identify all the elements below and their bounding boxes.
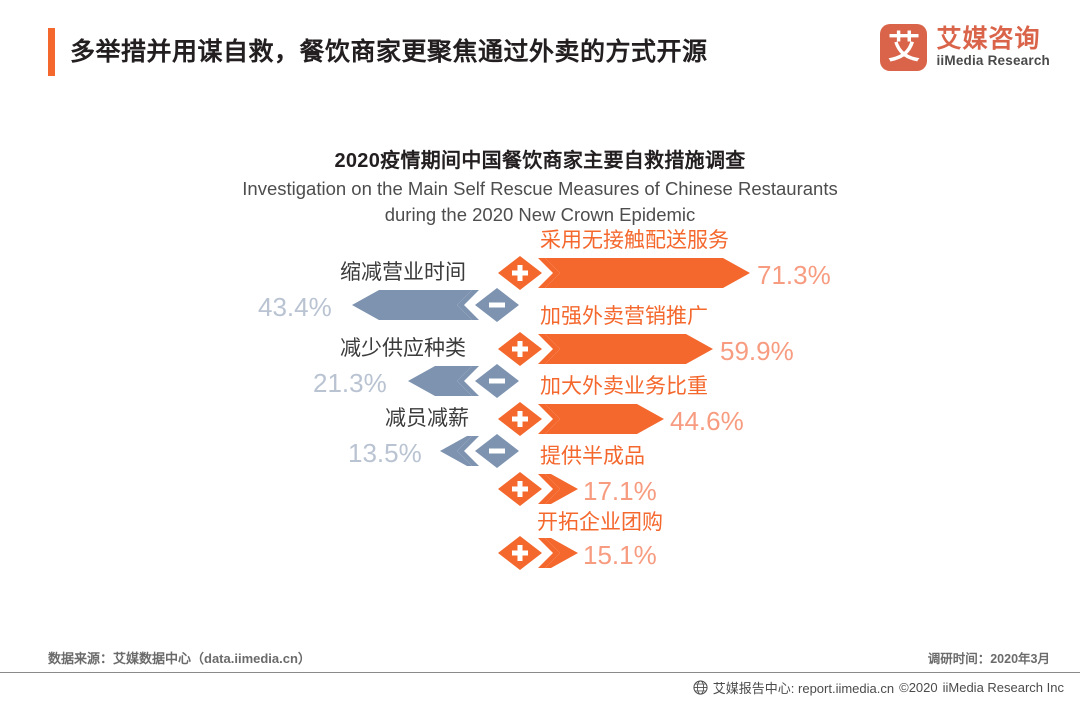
bar-label: 加强外卖营销推广 <box>540 306 708 327</box>
logo-name-en: iiMedia Research <box>936 53 1050 69</box>
bar-shape-negative-0 <box>352 288 519 322</box>
bar-shape-positive-0 <box>498 256 750 290</box>
bar-shape-positive-1 <box>498 332 713 366</box>
bar-shape-negative-2 <box>440 434 519 468</box>
chart-title: 2020疫情期间中国餐饮商家主要自救措施调查 <box>0 144 1080 173</box>
bar-value: 71.3% <box>757 262 831 288</box>
footer-source: 数据来源：艾媒数据中心（data.iimedia.cn） <box>48 648 311 667</box>
bar-value: 59.9% <box>720 338 794 364</box>
bar-value: 21.3% <box>313 370 387 396</box>
bar-shape-positive-4 <box>498 536 578 570</box>
bar-label: 缩减营业时间 <box>340 262 466 283</box>
bar-label: 加大外卖业务比重 <box>540 376 708 397</box>
title-accent-bar <box>48 28 55 76</box>
bar-label: 提供半成品 <box>540 446 645 467</box>
chart-subtitle: Investigation on the Main Self Rescue Me… <box>0 176 1080 229</box>
logo-name-cn: 艾媒咨询 <box>936 26 1050 52</box>
logo-mark-icon: 艾 <box>880 24 927 71</box>
bar-label: 采用无接触配送服务 <box>540 230 729 251</box>
chart-subtitle-line1: Investigation on the Main Self Rescue Me… <box>242 178 837 199</box>
footer-company: iiMedia Research Inc <box>943 680 1064 695</box>
bar-shape-positive-3 <box>498 472 578 506</box>
chart-subtitle-line2: during the 2020 New Crown Epidemic <box>385 204 696 225</box>
footer-survey-date: 调研时间：2020年3月 <box>928 648 1050 667</box>
footer-bar: 艾媒报告中心: report.iimedia.cn ©2020 iiMedia … <box>0 673 1080 702</box>
self-rescue-measures-chart: 采用无接触配送服务 71.3% 加强外卖营销推广 59.9% <box>0 230 1080 590</box>
bar-shape-positive-2 <box>498 402 664 436</box>
logo-text: 艾媒咨询 iiMedia Research <box>936 26 1050 68</box>
bar-value: 17.1% <box>583 478 657 504</box>
bar-value: 15.1% <box>583 542 657 568</box>
page-title: 多举措并用谋自救，餐饮商家更聚焦通过外卖的方式开源 <box>70 32 708 68</box>
globe-icon <box>693 680 708 695</box>
bar-value: 13.5% <box>348 440 422 466</box>
bar-label: 开拓企业团购 <box>537 512 663 533</box>
bar-value: 43.4% <box>258 294 332 320</box>
page-header: 多举措并用谋自救，餐饮商家更聚焦通过外卖的方式开源 艾 艾媒咨询 iiMedia… <box>0 0 1080 104</box>
bar-label: 减少供应种类 <box>340 338 466 359</box>
footer-copyright: ©2020 <box>899 680 938 695</box>
bar-shape-negative-1 <box>408 364 519 398</box>
footer-report-center[interactable]: 艾媒报告中心: report.iimedia.cn <box>713 678 894 697</box>
bar-value: 44.6% <box>670 408 744 434</box>
brand-logo: 艾 艾媒咨询 iiMedia Research <box>880 24 1050 71</box>
bar-label: 减员减薪 <box>385 408 469 429</box>
